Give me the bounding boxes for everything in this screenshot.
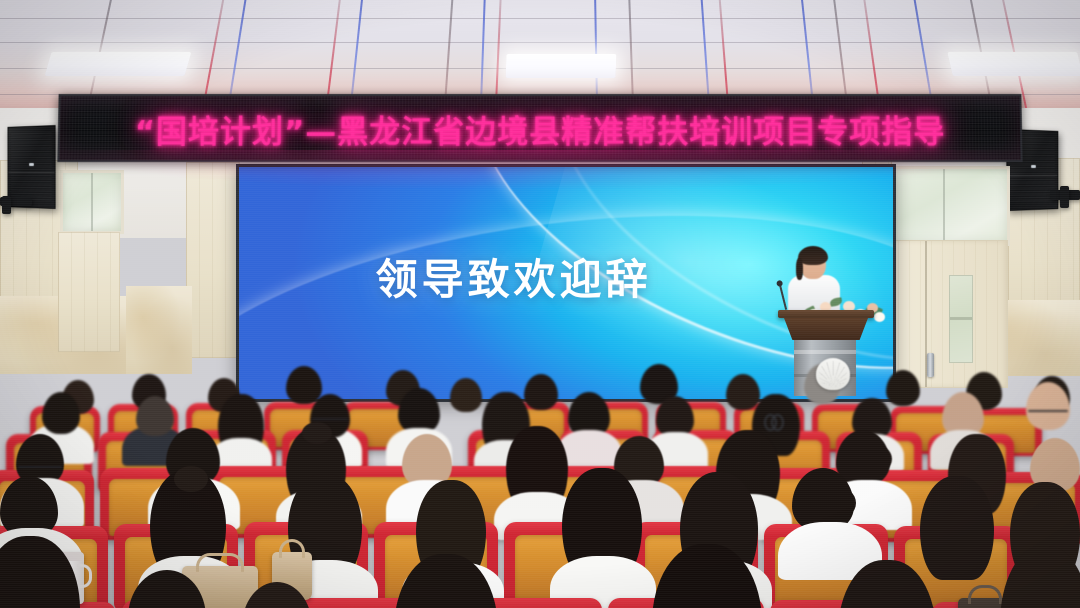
hand-fan: [816, 358, 850, 390]
ceiling-light-panel: [947, 52, 1080, 76]
hair-bow: [764, 414, 784, 427]
attendee-head: [42, 392, 80, 434]
audience-seating: [0, 330, 1080, 608]
attendee-hair-bun: [174, 466, 208, 492]
led-scrolling-banner: “国培计划”—黑龙江省边境县精准帮扶培训项目专项指导: [57, 94, 1022, 162]
ceiling-light-panel: [506, 54, 617, 78]
attendee-glasses: [312, 418, 348, 420]
led-banner-text: “国培计划”—黑龙江省边境县精准帮扶培训项目专项指导: [134, 106, 945, 151]
attendee-hair-long: [920, 476, 994, 580]
podium-microphone: [779, 284, 787, 310]
attendee-head: [136, 396, 174, 436]
attendee-glasses: [18, 466, 62, 468]
attendee-head: [450, 378, 482, 412]
attendee-glasses: [1028, 410, 1068, 412]
speaker-bracket-right-arm: [1060, 186, 1069, 208]
podium-top: [778, 310, 874, 318]
presenter-hair-strand: [796, 258, 803, 280]
attendee-head: [286, 366, 322, 404]
wall-column-left: [186, 162, 240, 358]
attendee-head: [726, 374, 760, 410]
conference-hall-photo: 领导致欢迎辞 “国培计划”—黑龙江省边境县精准帮扶培训项目专项指导: [0, 0, 1080, 608]
attendee-head: [524, 374, 558, 410]
attendee-head: [886, 370, 920, 406]
speaker-bracket-left-arm: [2, 196, 11, 214]
ceiling-light-panel: [45, 52, 192, 76]
left-transom-window: [60, 170, 124, 234]
attendee-hair-bun: [302, 422, 332, 444]
right-transom-window: [888, 166, 1010, 246]
